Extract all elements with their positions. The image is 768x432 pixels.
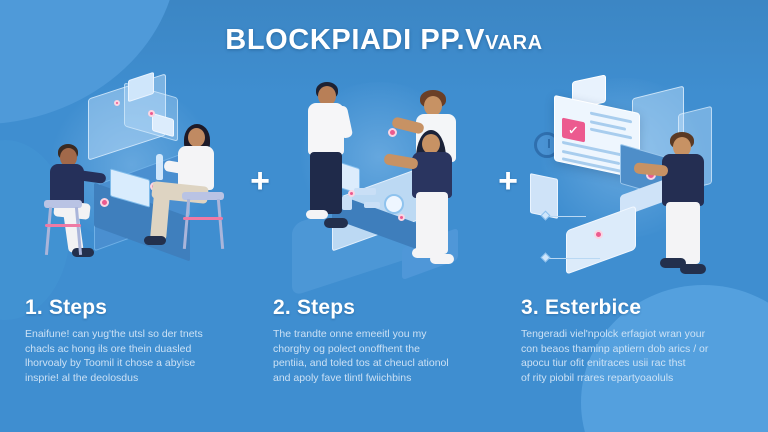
step-2-line-3: pentiia, and toled tos at cheucl ationol — [273, 356, 501, 371]
connector-line-1 — [546, 216, 586, 217]
pink-marker-icon-1 — [148, 110, 155, 117]
step-2-body: The trandte onne emeeitl you my chorghy … — [273, 327, 501, 385]
panel-2-illustration — [280, 72, 488, 290]
step-3-heading: 3. Esterbice — [521, 296, 749, 320]
illustration-row: + — [0, 72, 768, 290]
panel-3-illustration: ✓ — [528, 72, 736, 290]
person-a-legs — [310, 152, 342, 214]
person-d-shoe-right — [680, 264, 706, 274]
pink-marker-icon-5 — [348, 190, 355, 197]
bench-part-1 — [354, 188, 376, 195]
step-2-line-2: chorghy og polect onoffhent the — [273, 342, 501, 357]
steps-row: 1. Steps Enaifune! can yug'the utsl so d… — [0, 296, 768, 426]
step-3: 3. Esterbice Tengeradi viel'npolck erfag… — [517, 296, 753, 426]
person-left-stool-bar — [45, 224, 81, 227]
pink-marker-icon-8 — [594, 230, 603, 239]
person-c-shoe-right — [430, 254, 454, 264]
person-c-head — [422, 134, 440, 154]
bench-disc-part-icon — [384, 194, 404, 214]
step-1-line-3: lhorvoaly by Toomil it chose a abyise — [25, 356, 253, 371]
pink-marker-icon-7 — [388, 128, 397, 137]
pink-marker-icon-6 — [398, 214, 405, 221]
pink-marker-icon-2 — [114, 100, 120, 106]
person-right-stool-leg-2 — [217, 199, 224, 249]
step-3-body: Tengeradi viel'npolck erfagiot wran your… — [521, 327, 749, 385]
connector-node-2 — [541, 253, 551, 263]
plus-separator-2: + — [488, 72, 528, 290]
step-1-line-4: insprie! al the deolosdus — [25, 371, 253, 386]
person-d-legs — [666, 202, 700, 264]
infographic-canvas: BLOCKPIADI PP.Vvara — [0, 0, 768, 432]
step-1-line-2: chacls ac hong ils ore thein duasled — [25, 342, 253, 357]
step-3-line-4: of rity piobil rrares repartyoaoluls — [521, 371, 749, 386]
person-a-shoe-right — [324, 218, 348, 228]
step-1: 1. Steps Enaifune! can yug'the utsl so d… — [21, 296, 257, 426]
step-3-line-1: Tengeradi viel'npolck erfagiot wran your — [521, 327, 749, 342]
step-2-heading: 2. Steps — [273, 296, 501, 320]
person-left-stool-leg-1 — [45, 207, 52, 255]
panel-1-illustration — [32, 72, 240, 290]
person-left-shoe — [72, 248, 94, 257]
connector-line-2 — [546, 258, 600, 259]
person-right-head — [188, 128, 205, 147]
person-right-stool-bar — [183, 217, 223, 220]
bench-part-2 — [364, 202, 380, 208]
bench-part-3 — [342, 196, 352, 210]
person-right-shoe — [144, 236, 166, 245]
person-c-legs — [416, 192, 448, 254]
person-a-shoe-left — [306, 210, 328, 219]
step-2: 2. Steps The trandte onne emeeitl you my… — [269, 296, 505, 426]
pink-marker-icon-4 — [100, 198, 109, 207]
water-bottle-icon — [156, 154, 163, 180]
step-1-line-1: Enaifune! can yug'the utsl so der tnets — [25, 327, 253, 342]
step-2-line-1: The trandte onne emeeitl you my — [273, 327, 501, 342]
step-3-line-3: apocu tiur ofit enitraces usii rac thst — [521, 356, 749, 371]
step-3-line-2: con beaos thaminp aptiern dob arics / or — [521, 342, 749, 357]
page-title: BLOCKPIADI PP.Vvara — [0, 24, 768, 57]
step-2-line-4: and apoly fave tlintl fwiichbins — [273, 371, 501, 386]
step-1-body: Enaifune! can yug'the utsl so der tnets … — [25, 327, 253, 385]
person-d-torso — [662, 154, 704, 206]
step-1-heading: 1. Steps — [25, 296, 253, 320]
plus-separator-1: + — [240, 72, 280, 290]
person-b-head — [424, 96, 442, 116]
